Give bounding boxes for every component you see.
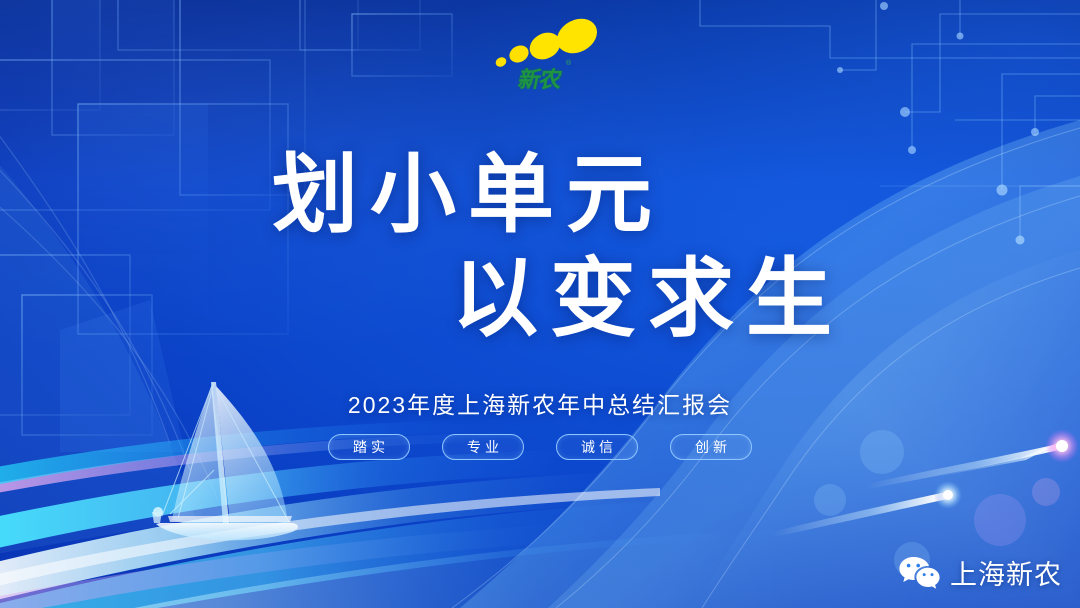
value-tag-list: 踏实 专业 诚信 创新 xyxy=(0,434,1080,460)
value-tag-2: 专业 xyxy=(442,434,524,460)
headline-line-1: 划小单元 xyxy=(0,143,1080,247)
wechat-icon xyxy=(897,554,941,592)
logo-registered-mark: ® xyxy=(566,60,571,67)
headline-line-2: 以变求生 xyxy=(0,247,1080,351)
value-tag-4: 创新 xyxy=(670,434,752,460)
page-title: 划小单元 以变求生 xyxy=(0,143,1080,351)
value-tag-3: 诚信 xyxy=(556,434,638,460)
poster-canvas: 新农 ® 划小单元 以变求生 2023年度上海新农年中总结汇报会 踏实 专业 诚… xyxy=(0,0,1080,608)
wechat-account-name: 上海新农 xyxy=(950,553,1062,592)
event-subtitle: 2023年度上海新农年中总结汇报会 xyxy=(0,386,1080,420)
value-tag-1: 踏实 xyxy=(328,434,410,460)
wechat-account-badge: 上海新农 xyxy=(897,553,1062,592)
logo-wordmark: 新农 xyxy=(516,62,565,94)
